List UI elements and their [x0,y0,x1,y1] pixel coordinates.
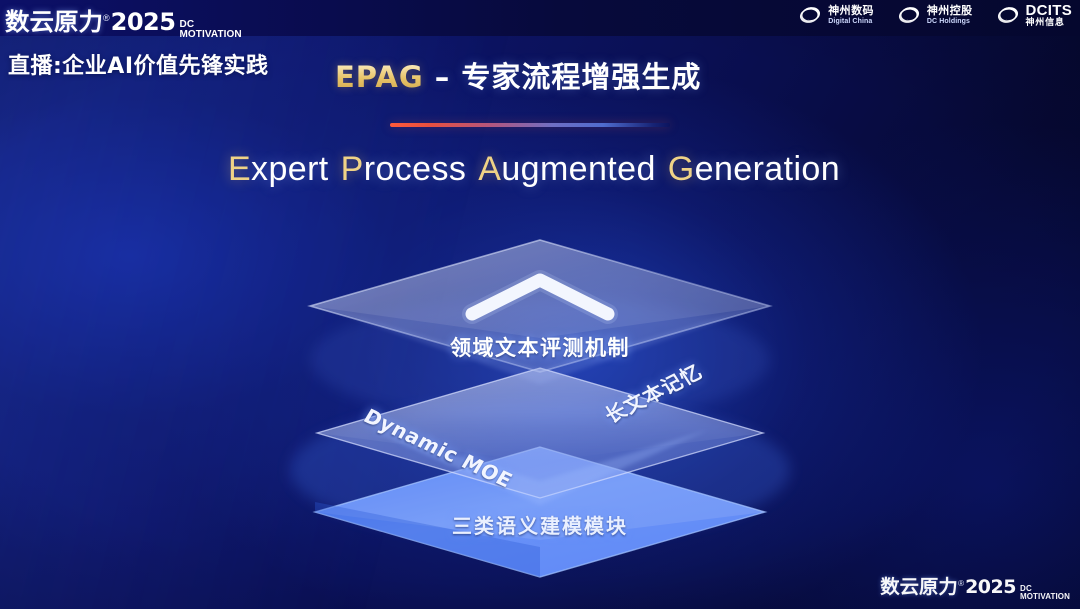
subtitle-cap-g: G [668,150,695,188]
page-title: EPAG – 专家流程增强生成 [335,54,701,96]
partner-name-cn: 神州信息 [1026,18,1073,27]
brand-logo: 数云原力 ® 2025 DC MOTIVATION [6,2,242,42]
swirl-logo-icon [797,3,823,27]
subtitle-acronym-expansion: ExpertProcessAugmentedGeneration [0,150,1080,189]
slide-canvas: 数云原力 ® 2025 DC MOTIVATION 神州数码 Digital C… [0,0,1080,609]
subtitle-cap-p: P [341,150,364,188]
brand-dc-motivation: DC MOTIVATION [179,20,241,39]
swirl-logo-icon [896,3,922,27]
subtitle-rest-augmented: ugmented [501,150,655,188]
live-stream-label: 直播:企业AI价值先锋实践 [8,48,269,80]
swirl-logo-icon [995,3,1021,27]
partner-name-en: Digital China [828,18,874,25]
brand-registered-mark: ® [103,13,110,23]
partner-text-dcits: DCITS 神州信息 [1026,3,1073,27]
subtitle-word-expert: Expert [228,150,329,189]
partner-name-cn: 神州数码 [828,6,874,17]
subtitle-word-generation: Generation [668,150,840,189]
partner-name-cn: 神州控股 [927,6,973,17]
partner-logo-digital-china: 神州数码 Digital China [797,3,874,27]
title-chinese: 专家流程增强生成 [461,60,701,94]
brand-year: 2025 [111,8,176,36]
watermark-registered-mark: ® [958,579,964,588]
subtitle-cap-e: E [228,150,251,188]
subtitle-cap-a: A [478,150,501,188]
partner-logo-dcits: DCITS 神州信息 [995,3,1073,27]
subtitle-word-process: Process [341,150,467,189]
gradient-divider [390,123,670,127]
watermark-motivation-text: MOTIVATION [1020,593,1070,601]
title-acronym: EPAG [335,60,424,94]
diagram-layer-top [310,240,770,384]
watermark-year: 2025 [965,576,1016,598]
subtitle-word-augmented: Augmented [478,150,656,189]
partner-text-dc-holdings: 神州控股 DC Holdings [927,6,973,25]
partner-name-en: DCITS [1026,3,1073,18]
diagram-layer-middle [317,368,763,505]
title-dash: – [435,60,451,94]
diagram-layer-bottom-label: 三类语义建模模块 [0,510,1080,539]
watermark-logo: 数云原力 ® 2025 DC MOTIVATION [881,572,1070,603]
subtitle-rest-expert: xpert [251,150,329,188]
subtitle-rest-process: rocess [364,150,467,188]
watermark-dc-motivation: DC MOTIVATION [1020,585,1070,601]
partner-logo-dc-holdings: 神州控股 DC Holdings [896,3,973,27]
brand-name-cn: 数云原力 [5,2,103,37]
partner-name-en: DC Holdings [927,18,973,25]
partner-logo-group: 神州数码 Digital China 神州控股 DC Holdings [797,3,1072,27]
diagram-layer-top-label: 领域文本评测机制 [0,332,1080,362]
subtitle-rest-generation: eneration [695,150,840,188]
brand-motivation-text: MOTIVATION [179,30,241,40]
partner-text-digital-china: 神州数码 Digital China [828,6,874,25]
watermark-name-cn: 数云原力 [880,572,958,599]
